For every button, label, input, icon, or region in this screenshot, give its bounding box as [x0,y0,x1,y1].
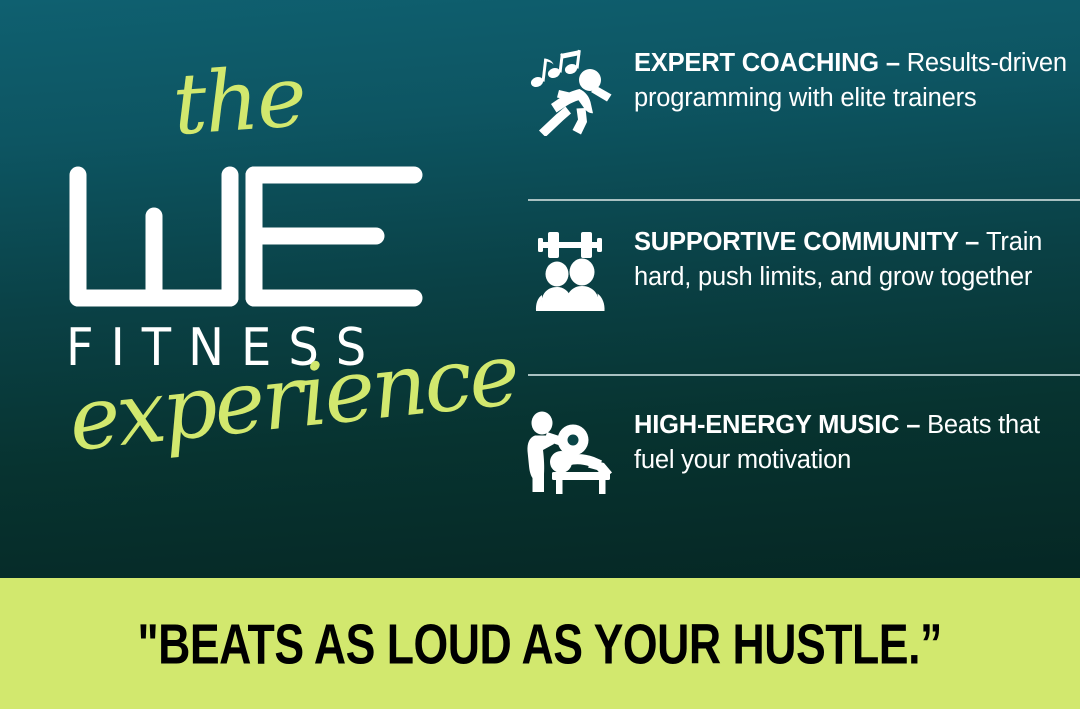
feature-text: HIGH-ENERGY MUSIC – Beats that fuel your… [634,408,1080,478]
feature-title: SUPPORTIVE COMMUNITY – [634,228,986,256]
feature-divider [528,374,1080,376]
two-people-with-barbell-icon [522,227,618,311]
fitness-promo-poster: the FITNESS experience [0,0,1080,709]
quote-banner: "BEATS AS LOUD AS YOUR HUSTLE.” [0,578,1080,709]
feature-divider [528,199,1080,201]
brand-script-the: the [170,54,307,147]
brand-lockup: the FITNESS experience [0,0,500,578]
we-logo-mark [62,163,432,315]
feature-title: EXPERT COACHING – [634,49,907,77]
feature-text: EXPERT COACHING – Results-driven program… [634,46,1080,116]
feature-text: SUPPORTIVE COMMUNITY – Train hard, push … [634,225,1080,295]
bench-press-with-spotter-icon [522,410,618,494]
banner-quote-text: "BEATS AS LOUD AS YOUR HUSTLE.” [138,611,942,677]
feature-title: HIGH-ENERGY MUSIC – [634,411,927,439]
feature-list: EXPERT COACHING – Results-driven program… [500,0,1080,578]
feature-item: HIGH-ENERGY MUSIC – Beats that fuel your… [500,408,1080,494]
runner-with-music-notes-icon [522,48,618,136]
feature-item: EXPERT COACHING – Results-driven program… [500,46,1080,136]
feature-item: SUPPORTIVE COMMUNITY – Train hard, push … [500,225,1080,311]
